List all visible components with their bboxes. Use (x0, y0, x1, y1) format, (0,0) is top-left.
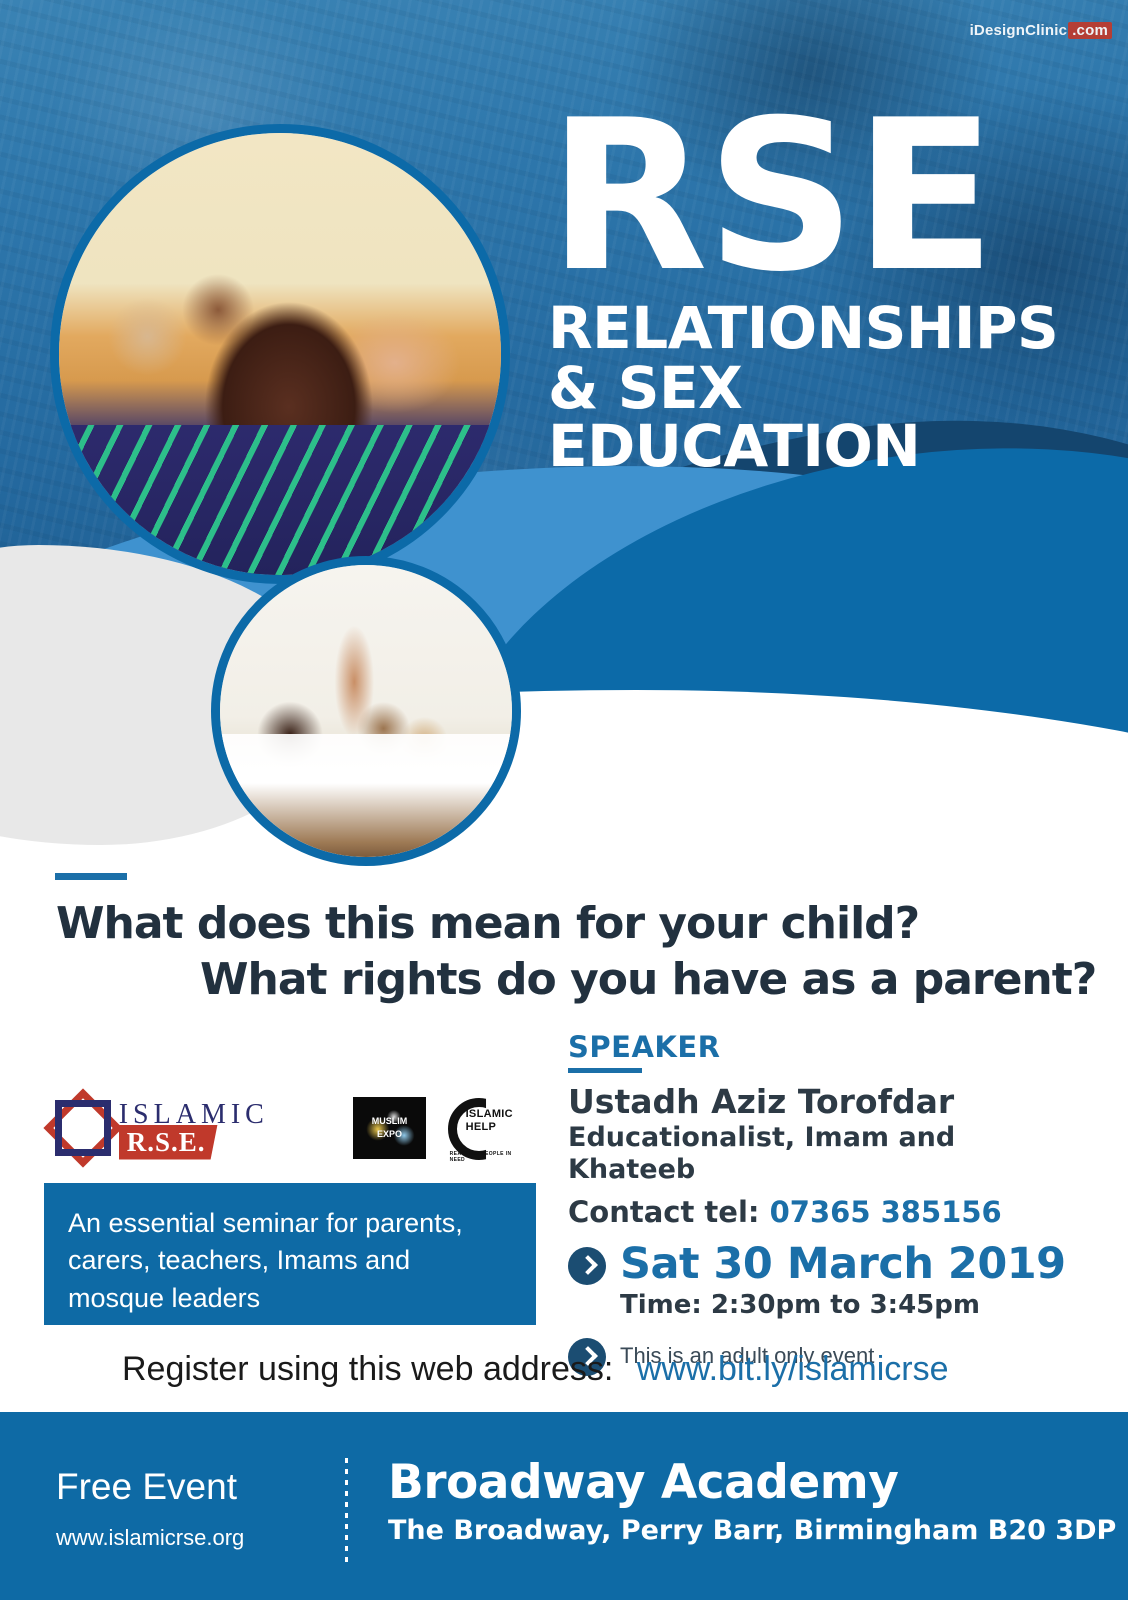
footer-bar: Free Event www.islamicrse.org Broadway A… (0, 1412, 1128, 1600)
photo-circle-top-image (59, 133, 501, 575)
logo-muslim-expo: MUSLIM EXPO (353, 1097, 425, 1159)
logo-islamic-rse: ISLAMIC R.S.E. (44, 1089, 335, 1167)
seminar-description-box: An essential seminar for parents, carers… (44, 1183, 536, 1325)
event-date: Sat 30 March 2019 (620, 1239, 1066, 1289)
speaker-underline (568, 1068, 642, 1073)
speaker-label: SPEAKER (568, 1030, 1088, 1064)
venue-name: Broadway Academy (388, 1458, 1116, 1507)
title-subtitle-line1: RELATIONSHIPS (548, 299, 1108, 357)
contact-line: Contact tel: 07365 385156 (568, 1195, 1088, 1229)
seminar-description-text: An essential seminar for parents, carers… (68, 1205, 512, 1317)
title-block: RSE RELATIONSHIPS & SEX EDUCATION (548, 108, 1108, 475)
partner-logos-row: ISLAMIC R.S.E. MUSLIM EXPO ISLAMIC HELP … (44, 1082, 514, 1174)
contact-label: Contact tel: (568, 1195, 760, 1229)
title-subtitle-line2: & SEX EDUCATION (548, 359, 1108, 475)
photo-circle-classroom-boy (50, 124, 510, 584)
islamic-rse-word-rse: R.S.E. (119, 1125, 218, 1160)
islamic-help-line2: HELP (466, 1121, 497, 1133)
islamic-help-line1: ISLAMIC (466, 1108, 513, 1120)
headline-question-2: What rights do you have as a parent? (200, 954, 1096, 1005)
logo-islamic-help: ISLAMIC HELP REACHING PEOPLE IN NEED (444, 1092, 514, 1164)
watermark-idesignclinic: iDesignClinic.com (970, 22, 1112, 39)
chevron-right-icon (568, 1247, 606, 1285)
islamic-help-tagline: REACHING PEOPLE IN NEED (450, 1151, 514, 1163)
free-event-label: Free Event (56, 1468, 244, 1505)
headline-accent-dash (55, 873, 127, 880)
event-details-column: SPEAKER Ustadh Aziz Torofdar Educational… (568, 1030, 1088, 1376)
photo-circle-hand-raised (211, 556, 521, 866)
footer-right-block: Broadway Academy The Broadway, Perry Bar… (388, 1458, 1116, 1546)
date-time-row: Sat 30 March 2019 Time: 2:30pm to 3:45pm (568, 1243, 1088, 1320)
watermark-name: iDesignClinic (970, 22, 1068, 39)
speaker-role: Educationalist, Imam and Khateeb (568, 1122, 1088, 1187)
speaker-name: Ustadh Aziz Torofdar (568, 1083, 1088, 1121)
register-label: Register using this web address: (122, 1350, 613, 1388)
watermark-tld: .com (1068, 22, 1112, 39)
contact-phone-number[interactable]: 07365 385156 (770, 1195, 1002, 1229)
muslim-expo-line1: MUSLIM (372, 1115, 408, 1129)
muslim-expo-line2: EXPO (377, 1128, 402, 1142)
footer-left-block: Free Event www.islamicrse.org (56, 1468, 244, 1551)
venue-address: The Broadway, Perry Barr, Birmingham B20… (388, 1515, 1116, 1546)
footer-dotted-divider (345, 1458, 348, 1562)
photo-circle-bottom-image (220, 565, 512, 857)
title-acronym: RSE (548, 108, 1108, 287)
footer-website-url[interactable]: www.islamicrse.org (56, 1525, 244, 1551)
headline-question-1: What does this mean for your child? (56, 898, 919, 949)
hero-section: iDesignClinic.com RSE RELATIONSHIPS & SE… (0, 0, 1128, 880)
event-time: Time: 2:30pm to 3:45pm (620, 1290, 1066, 1320)
register-line: Register using this web address: www.bit… (122, 1350, 949, 1389)
islamic-rse-star-icon (44, 1089, 111, 1167)
register-url[interactable]: www.bit.ly/islamicrse (637, 1350, 949, 1388)
poster-root: iDesignClinic.com RSE RELATIONSHIPS & SE… (0, 0, 1128, 1600)
